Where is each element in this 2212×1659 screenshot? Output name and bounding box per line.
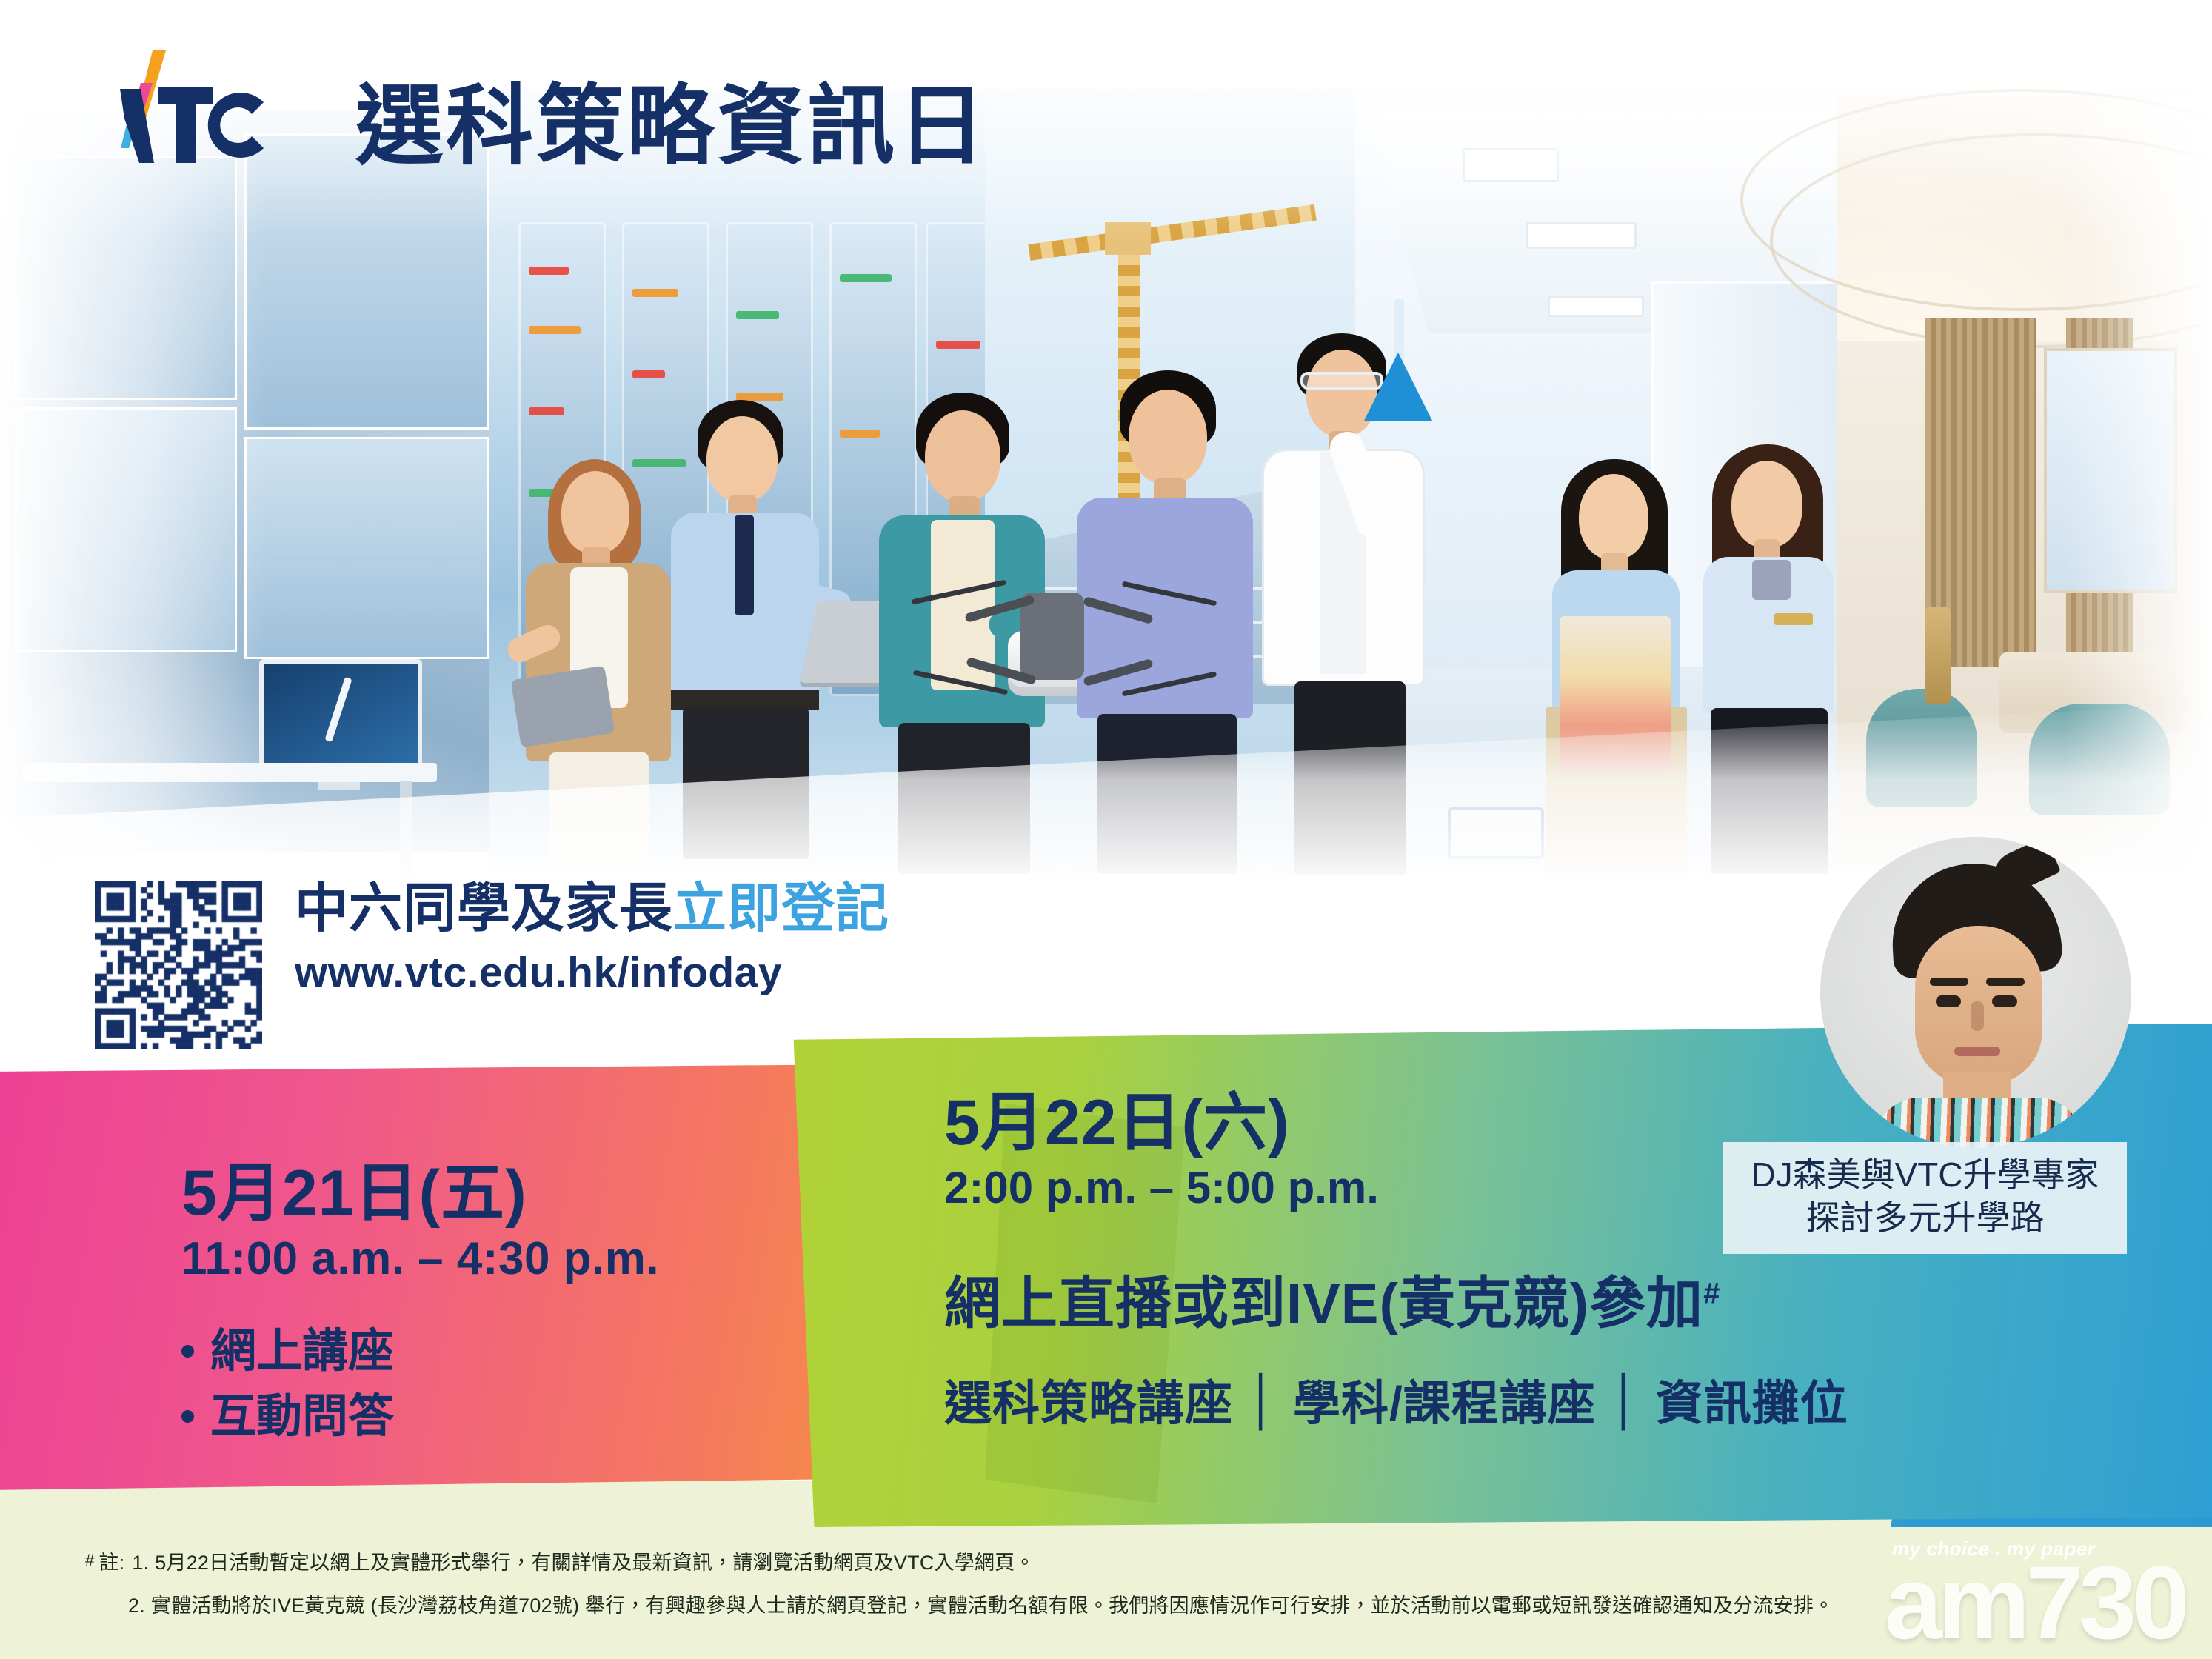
footnote-number: 2.: [128, 1591, 145, 1622]
footnote-row: # 註: 1. 5月22日活動暫定以網上及實體形式舉行，有關詳情及最新資訊，請瀏…: [85, 1548, 1834, 1579]
bullet-dot-icon: [181, 1410, 194, 1423]
dj-patterned-shirt: [1875, 1098, 2082, 1148]
dj-caption: DJ森美與VTC升學專家 探討多元升學路: [1723, 1142, 2127, 1254]
dj-caption-line2: 探討多元升學路: [1731, 1197, 2119, 1240]
dj-avatar: [1820, 837, 2131, 1148]
qr-code[interactable]: [95, 881, 262, 1049]
registration-audience: 中六同學及家長: [295, 879, 673, 938]
name-badge: [1774, 613, 1813, 625]
footnote-text: 實體活動將於IVE黃克競 (長沙灣荔枝角道702號) 舉行，有興趣參與人士請於網…: [151, 1591, 1834, 1622]
page-header: 選科策略資訊日: [95, 44, 988, 178]
day2-mode-marker: #: [1703, 1278, 1720, 1310]
bullet-dot-icon: [181, 1345, 194, 1358]
neck-scarf: [1752, 560, 1791, 600]
vtc-logo: [95, 44, 339, 178]
day1-bullet-item: 互動問答: [181, 1384, 659, 1449]
footnote-text: 5月22日活動暫定以網上及實體形式舉行，有關詳情及最新資訊，請瀏覽活動網頁及VT…: [155, 1548, 1035, 1579]
page-title: 選科策略資訊日: [355, 83, 988, 170]
day2-item: 資訊攤位: [1656, 1366, 1848, 1434]
day1-bullet-list: 網上講座 互動問答: [181, 1319, 659, 1449]
footnote-number: 1.: [132, 1548, 149, 1579]
day2-time: 2:00 p.m. – 5:00 p.m.: [944, 1162, 1848, 1213]
day1-bullet-label: 網上講座: [210, 1319, 394, 1384]
registration-block: 中六同學及家長立即登記 www.vtc.edu.hk/infoday: [95, 881, 889, 1049]
day1-bullet-item: 網上講座: [181, 1319, 659, 1384]
footnotes: # 註: 1. 5月22日活動暫定以網上及實體形式舉行，有關詳情及最新資訊，請瀏…: [85, 1548, 1834, 1622]
footnote-label: 註:: [98, 1548, 124, 1579]
registration-url[interactable]: www.vtc.edu.hk/infoday: [295, 948, 889, 997]
day1-content: 5月21日(五) 11:00 a.m. – 4:30 p.m. 網上講座 互動問…: [181, 1159, 659, 1449]
registration-text: 中六同學及家長立即登記 www.vtc.edu.hk/infoday: [295, 881, 889, 997]
dj-portrait: [1820, 837, 2131, 1148]
footnote-row: 2. 實體活動將於IVE黃克競 (長沙灣荔枝角道702號) 舉行，有興趣參與人士…: [85, 1591, 1834, 1622]
day2-mode-label: 網上直播或到IVE(黃克競)參加: [944, 1272, 1703, 1335]
day2-item: 學科/課程講座: [1293, 1366, 1596, 1434]
day2-content: 5月22日(六) 2:00 p.m. – 5:00 p.m. 網上直播或到IVE…: [944, 1089, 1848, 1434]
day2-item: 選科策略講座: [944, 1366, 1233, 1434]
desktop-monitor: [259, 659, 422, 770]
item-separator: │: [1248, 1372, 1278, 1427]
drone-icon: [1020, 592, 1084, 680]
am730-wordmark: am730: [1885, 1551, 2185, 1655]
poster-root: 選科策略資訊日 中六同學及家長立即登記 www.vtc.edu.hk/infod…: [0, 0, 2212, 1659]
day2-mode: 網上直播或到IVE(黃克競)參加#: [944, 1258, 1848, 1339]
lab-flask-icon: [1364, 353, 1432, 421]
day1-bullet-label: 互動問答: [210, 1384, 394, 1449]
dj-caption-line1: DJ森美與VTC升學專家: [1731, 1154, 2119, 1197]
registration-cta: 立即登記: [673, 879, 889, 938]
footnote-marker: #: [85, 1548, 94, 1579]
day1-date: 5月21日(五): [181, 1159, 659, 1228]
registration-headline: 中六同學及家長立即登記: [295, 881, 889, 938]
day1-time: 11:00 a.m. – 4:30 p.m.: [181, 1232, 659, 1285]
day2-date: 5月22日(六): [944, 1089, 1848, 1158]
item-separator: │: [1611, 1372, 1641, 1427]
day2-items: 選科策略講座 │ 學科/課程講座 │ 資訊攤位: [944, 1366, 1848, 1434]
am730-logo: my choice . my paper am730: [1879, 1527, 2197, 1659]
